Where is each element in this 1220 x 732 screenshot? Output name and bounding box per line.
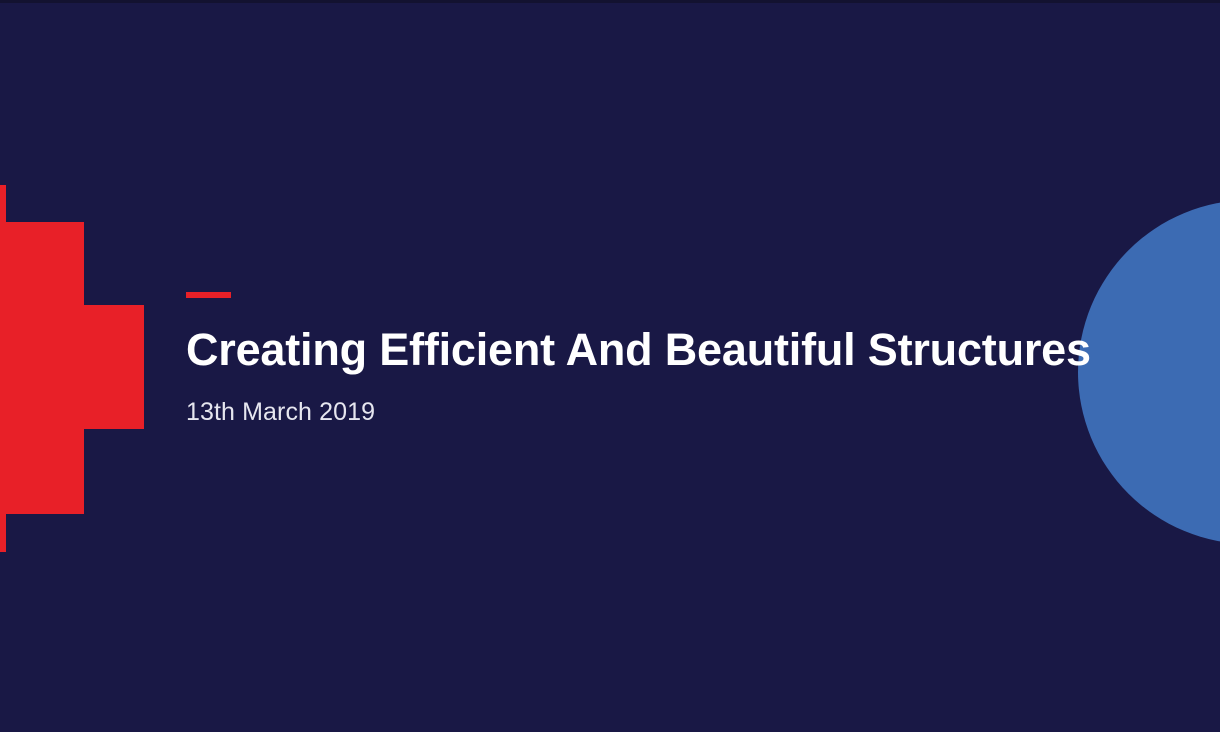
- red-cross-arm-shape: [83, 305, 144, 429]
- title-slide: Creating Efficient And Beautiful Structu…: [0, 0, 1220, 732]
- top-edge-band: [0, 0, 1220, 3]
- red-vertical-bar-shape: [0, 222, 84, 514]
- slide-content: Creating Efficient And Beautiful Structu…: [186, 292, 1086, 427]
- blue-circle-shape: [1078, 200, 1220, 544]
- page-title: Creating Efficient And Beautiful Structu…: [186, 326, 1086, 375]
- red-accent-dash: [186, 292, 231, 298]
- slide-date: 13th March 2019: [186, 398, 1086, 427]
